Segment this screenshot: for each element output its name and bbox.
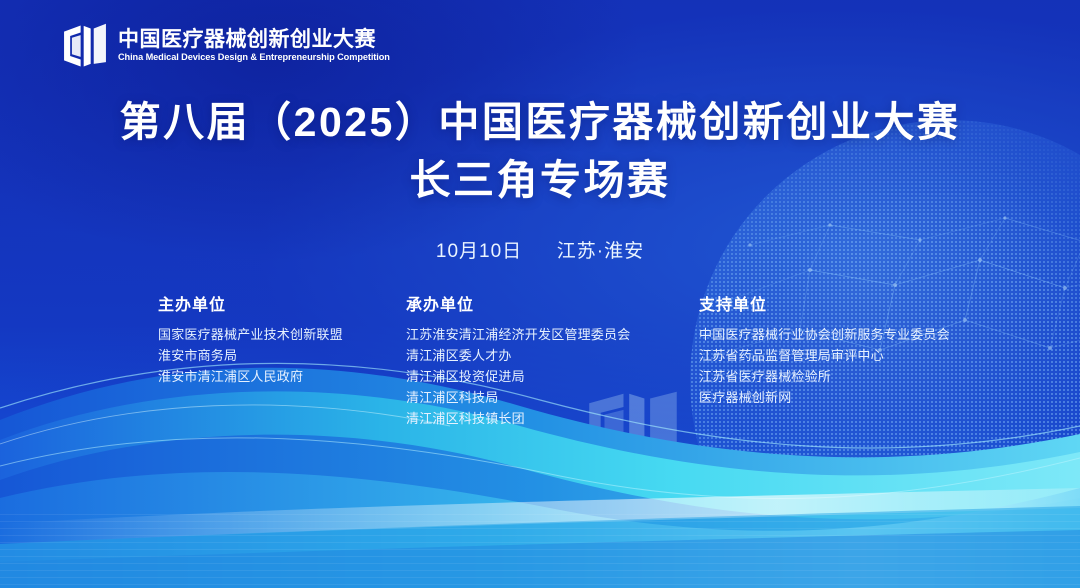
event-logo: 中国医疗器械创新创业大赛 China Medical Devices Desig… xyxy=(63,22,398,70)
logo-english-name: China Medical Devices Design & Entrepren… xyxy=(118,53,390,63)
organizer-column-organizer: 承办单位 江苏淮安清江浦经济开发区管理委员会 清江浦区委人才办 清江浦区投资促进… xyxy=(406,298,630,429)
organizer-item: 江苏省医疗器械检验所 xyxy=(699,366,950,387)
organizer-column-host: 主办单位 国家医疗器械产业技术创新联盟 淮安市商务局 淮安市清江浦区人民政府 xyxy=(158,298,343,387)
organizer-item: 清江浦区科技镇长团 xyxy=(406,408,630,429)
organizer-item: 淮安市商务局 xyxy=(158,345,343,366)
event-date-location: 10月10日 江苏·淮安 xyxy=(0,236,1080,263)
organizer-item: 国家医疗器械产业技术创新联盟 xyxy=(158,324,343,345)
organizer-item: 江苏省药品监督管理局审评中心 xyxy=(699,345,950,366)
organizer-item: 医疗器械创新网 xyxy=(699,387,950,408)
event-location: 江苏·淮安 xyxy=(557,241,644,262)
logo-chinese-name: 中国医疗器械创新创业大赛 xyxy=(118,29,398,50)
organizer-columns: 主办单位 国家医疗器械产业技术创新联盟 淮安市商务局 淮安市清江浦区人民政府 承… xyxy=(0,298,1080,448)
organizer-item: 清江浦区科技局 xyxy=(406,387,630,408)
logo-text-block: 中国医疗器械创新创业大赛 China Medical Devices Desig… xyxy=(118,29,398,63)
organizer-item: 中国医疗器械行业协会创新服务专业委员会 xyxy=(699,324,950,345)
title-line-1: 第八届（2025）中国医疗器械创新创业大赛 xyxy=(0,96,1080,148)
organizer-item: 清江浦区委人才办 xyxy=(406,345,630,366)
title-line-2: 长三角专场赛 xyxy=(0,154,1080,206)
conference-banner: 中国医疗器械创新创业大赛 China Medical Devices Desig… xyxy=(0,0,1080,588)
organizer-item: 江苏淮安清江浦经济开发区管理委员会 xyxy=(406,324,630,345)
organizer-item: 淮安市清江浦区人民政府 xyxy=(158,366,343,387)
organizer-column-supporter: 支持单位 中国医疗器械行业协会创新服务专业委员会 江苏省药品监督管理局审评中心 … xyxy=(699,298,950,408)
organizer-heading: 支持单位 xyxy=(699,298,950,314)
event-date: 10月10日 xyxy=(436,241,522,262)
page-title: 第八届（2025）中国医疗器械创新创业大赛 长三角专场赛 xyxy=(0,96,1080,207)
organizer-heading: 承办单位 xyxy=(406,298,630,314)
organizer-heading: 主办单位 xyxy=(158,298,343,314)
organizer-item: 清江浦区投资促进局 xyxy=(406,366,630,387)
open-book-logo-icon xyxy=(63,22,107,70)
